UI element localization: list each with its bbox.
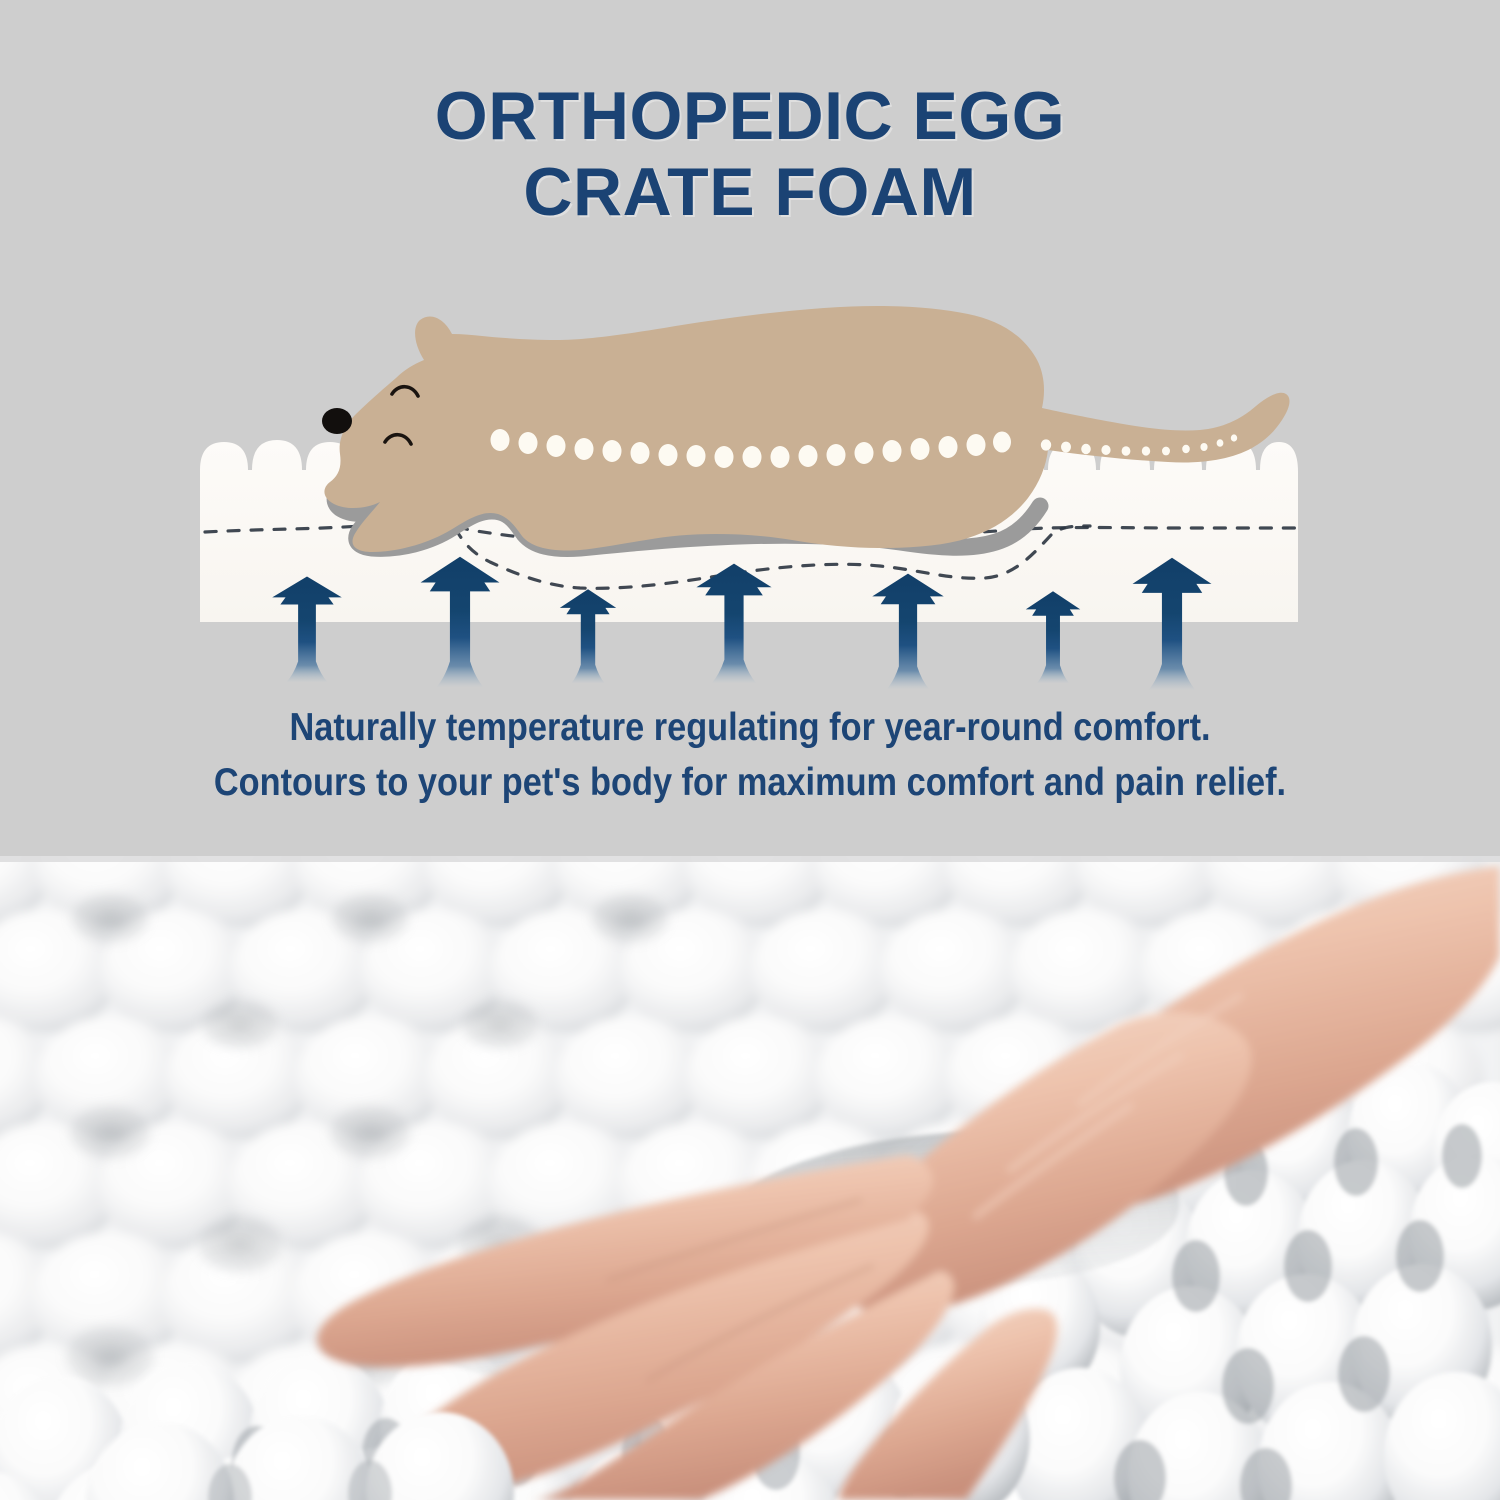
foam-cross-section-diagram — [0, 290, 1500, 690]
caption-block: Naturally temperature regulating for yea… — [0, 700, 1500, 811]
pressure-arrow — [560, 589, 616, 683]
caption-line-1: Naturally temperature regulating for yea… — [90, 700, 1410, 755]
foam-foreground-peaks — [86, 1412, 514, 1500]
caption-line-2: Contours to your pet's body for maximum … — [90, 755, 1410, 810]
title-line-2: CRATE FOAM — [0, 154, 1500, 230]
page-title: ORTHOPEDIC EGG CRATE FOAM — [0, 78, 1500, 230]
pressure-arrow — [1026, 591, 1081, 683]
pressure-arrow — [696, 564, 771, 684]
photo-top-edge — [0, 856, 1500, 862]
pressure-arrow — [1133, 558, 1212, 690]
pressure-arrow — [272, 576, 342, 682]
dog-nose — [322, 408, 352, 434]
foam-photo — [0, 856, 1500, 1500]
product-feature-image: ORTHOPEDIC EGG CRATE FOAM — [0, 0, 1500, 1500]
title-line-1: ORTHOPEDIC EGG — [0, 78, 1500, 154]
pressure-arrow — [872, 574, 943, 690]
infographic-panel: ORTHOPEDIC EGG CRATE FOAM — [0, 0, 1500, 856]
